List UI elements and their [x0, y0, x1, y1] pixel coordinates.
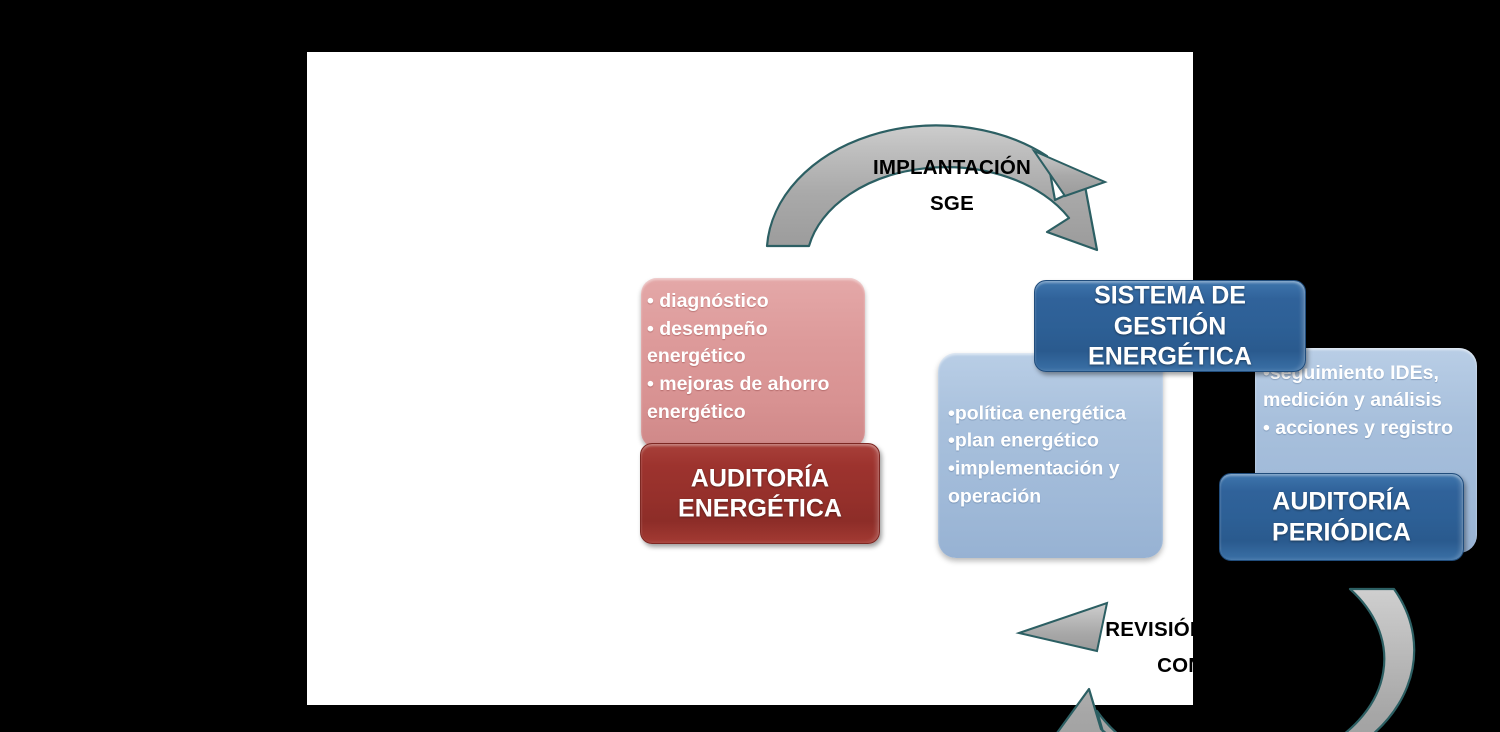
audit-stage-header-box[interactable]: AUDITORÍA ENERGÉTICA [640, 443, 880, 544]
periodic-stage-bullet-list: •seguimiento IDEs, medición y análisis •… [1263, 360, 1469, 442]
list-item: •implementación y operación [948, 456, 1155, 511]
audit-stage-header-label: AUDITORÍA ENERGÉTICA [641, 463, 879, 524]
top-arrow-label-line2: SGE [807, 186, 1097, 222]
list-item: • acciones y registro [1263, 415, 1469, 442]
audit-stage-bullets-panel: • diagnóstico • desempeño energético • m… [641, 278, 865, 448]
sgm-stage-header-label: SISTEMA DE GESTIÓN ENERGÉTICA [1035, 280, 1305, 372]
list-item: •plan energético [948, 428, 1155, 456]
periodic-stage-header-label: AUDITORÍA PERIÓDICA [1220, 487, 1463, 548]
audit-stage-bullet-list: • diagnóstico • desempeño energético • m… [647, 288, 857, 426]
list-item: • mejoras de ahorro energético [647, 371, 857, 426]
bottom-arrow-label-line2: CONTÍNUA [1067, 648, 1357, 684]
periodic-stage-header-box[interactable]: AUDITORÍA PERIÓDICA [1219, 473, 1464, 561]
list-item: • desempeño energético [647, 316, 857, 371]
top-arrow-label-line1: IMPLANTACIÓN [807, 150, 1097, 186]
top-arrow-label: IMPLANTACIÓN SGE [807, 150, 1097, 222]
bottom-arrow-label-line1: REVISIÓN Y MEJORA [1067, 612, 1357, 648]
diagram-canvas: IMPLANTACIÓN SGE REVISIÓN Y MEJORA CONTÍ… [307, 52, 1193, 705]
bottom-arrow-label: REVISIÓN Y MEJORA CONTÍNUA [1067, 612, 1357, 684]
sgm-stage-header-box[interactable]: SISTEMA DE GESTIÓN ENERGÉTICA [1034, 280, 1306, 372]
diagram-stage: IMPLANTACIÓN SGE REVISIÓN Y MEJORA CONTÍ… [0, 0, 1500, 705]
list-item: •política energética [948, 400, 1155, 428]
sgm-stage-bullet-list: •política energética •plan energético •i… [948, 400, 1155, 511]
list-item: • diagnóstico [647, 288, 857, 316]
sgm-stage-bullets-panel: •política energética •plan energético •i… [938, 353, 1163, 558]
